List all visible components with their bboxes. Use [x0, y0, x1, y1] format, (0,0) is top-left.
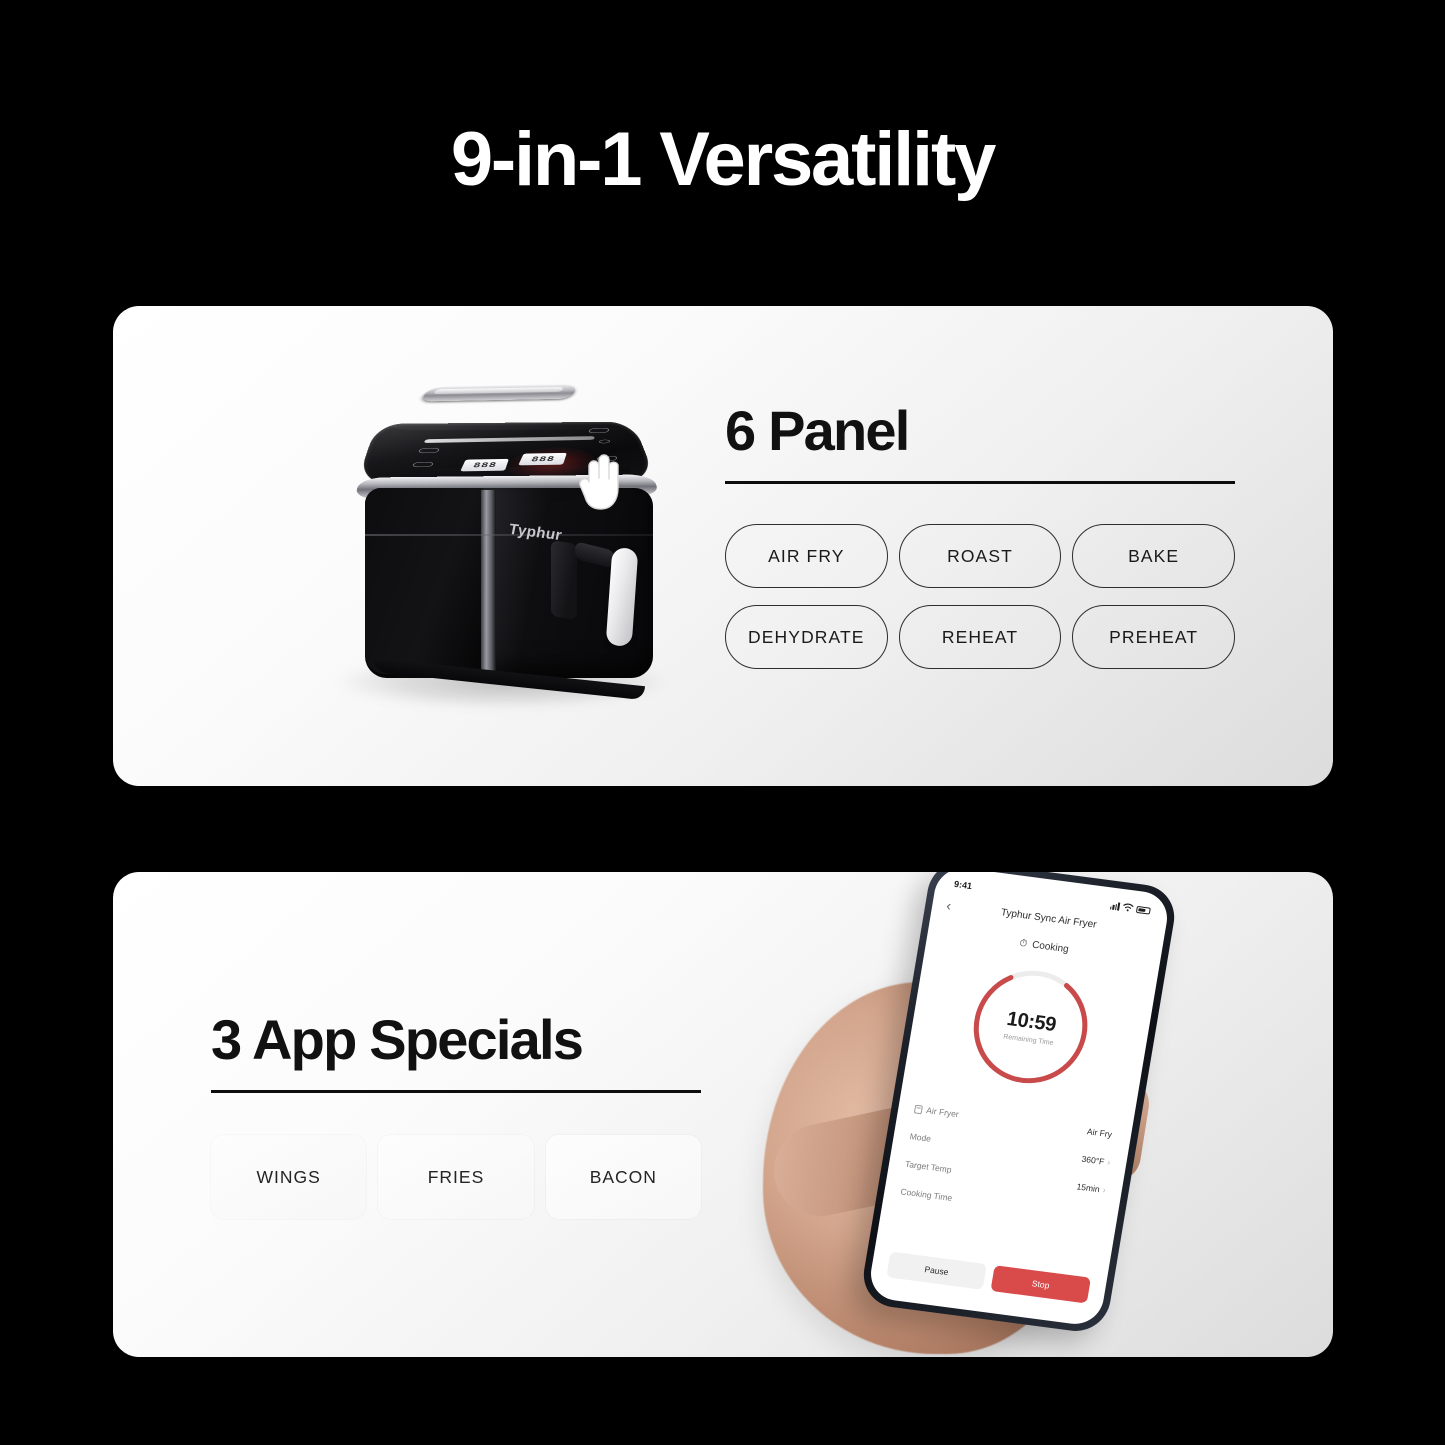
- hand-cursor-icon: [575, 452, 623, 512]
- smartphone: 9:41 ‹ Typhur Sy: [859, 872, 1180, 1335]
- fryer-body-left-face: [365, 488, 483, 674]
- row-value-text: 15min: [1076, 1181, 1101, 1194]
- panel-feature-card: 888 888 Typhur: [113, 306, 1333, 786]
- progress-ring-wrapper: 10:59 Remaining Time: [904, 949, 1157, 1106]
- pause-button[interactable]: Pause: [886, 1251, 987, 1289]
- settings-list: Air Fryer Air Fry Mode: [882, 1093, 1133, 1234]
- panel-text-column: 6 Panel AIR FRY ROAST BAKE DEHYDRATE REH…: [725, 403, 1235, 669]
- fryer-body-chrome-edge: [481, 490, 496, 676]
- mode-pill-reheat[interactable]: REHEAT: [899, 605, 1062, 669]
- row-label-text: Air Fryer: [926, 1105, 960, 1119]
- row-value-mode: 360°F ›: [1081, 1154, 1111, 1168]
- special-card-fries[interactable]: FRIES: [378, 1135, 533, 1219]
- mode-pill-bake[interactable]: BAKE: [1072, 524, 1235, 588]
- phone-screen: 9:41 ‹ Typhur Sy: [867, 872, 1171, 1327]
- row-label-text: Cooking Time: [900, 1186, 953, 1203]
- row-label-text: Target Temp: [904, 1159, 952, 1175]
- special-card-bacon[interactable]: BACON: [546, 1135, 701, 1219]
- panel-heading-rule: [725, 481, 1235, 484]
- infographic-page: 9-in-1 Versatility 888 888: [0, 0, 1445, 1445]
- mode-pill-grid: AIR FRY ROAST BAKE DEHYDRATE REHEAT PREH…: [725, 524, 1235, 669]
- stop-button[interactable]: Stop: [990, 1265, 1091, 1303]
- hand-holding-phone: 9:41 ‹ Typhur Sy: [743, 872, 1333, 1357]
- row-label-target-temp: Target Temp: [904, 1159, 952, 1175]
- app-text-column: 3 App Specials WINGS FRIES BACON: [211, 1012, 701, 1219]
- cooking-status-label: Cooking: [1031, 940, 1069, 956]
- row-chevron-icon: ›: [1106, 1157, 1111, 1167]
- fryer-lid-gloss: [373, 398, 623, 430]
- page-title: 9-in-1 Versatility: [0, 122, 1445, 198]
- specials-grid: WINGS FRIES BACON: [211, 1135, 701, 1219]
- action-buttons: Pause Stop: [886, 1251, 1091, 1303]
- row-label-text: Mode: [909, 1131, 932, 1144]
- led-display-left: 888: [460, 459, 509, 472]
- timer-readout: 10:59 Remaining Time: [1003, 1007, 1059, 1046]
- row-value-target-temp: 15min ›: [1076, 1181, 1107, 1195]
- air-fryer-illustration: 888 888 Typhur: [313, 356, 703, 746]
- row-chevron-icon: ›: [1102, 1185, 1107, 1195]
- row-value-text: 360°F: [1081, 1154, 1105, 1167]
- special-card-wings[interactable]: WINGS: [211, 1135, 366, 1219]
- app-heading-rule: [211, 1090, 701, 1093]
- mode-pill-preheat[interactable]: PREHEAT: [1072, 605, 1235, 669]
- timer-clock-icon: ⏱: [1019, 938, 1029, 950]
- mode-pill-dehydrate[interactable]: DEHYDRATE: [725, 605, 888, 669]
- row-value-text: Air Fry: [1086, 1126, 1112, 1139]
- mode-pill-air-fry[interactable]: AIR FRY: [725, 524, 888, 588]
- mode-pill-roast[interactable]: ROAST: [899, 524, 1062, 588]
- row-label-mode: Mode: [909, 1131, 932, 1144]
- basket-handle-arm: [551, 540, 577, 620]
- led-display-right: 888: [518, 453, 567, 466]
- appliance-icon: [914, 1104, 923, 1114]
- app-specials-card: 3 App Specials WINGS FRIES BACON 9:41: [113, 872, 1333, 1357]
- app-heading: 3 App Specials: [211, 1012, 701, 1068]
- row-value-air-fryer: Air Fry: [1086, 1126, 1115, 1140]
- row-label-cooking-time: Cooking Time: [900, 1186, 953, 1203]
- row-label-air-fryer: Air Fryer: [914, 1104, 960, 1120]
- panel-heading: 6 Panel: [725, 403, 1235, 459]
